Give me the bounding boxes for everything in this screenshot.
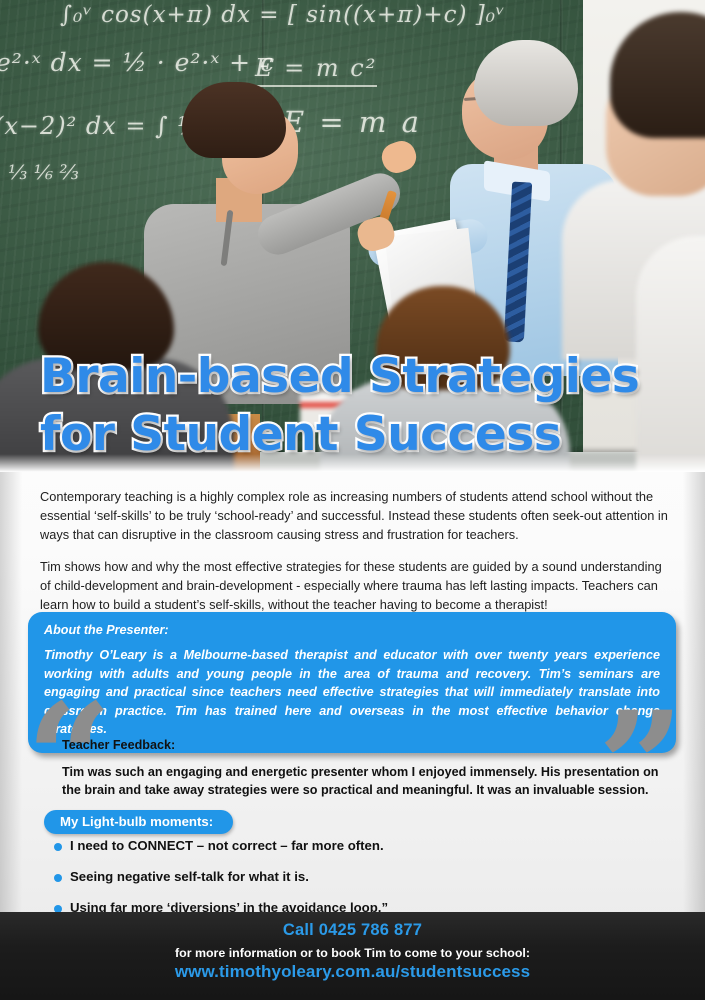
teacher-feedback-section: “ ” Teacher Feedback: Tim was such an en…: [28, 732, 678, 812]
bullet-dot-icon: [54, 843, 62, 851]
about-presenter-heading: About the Presenter:: [44, 623, 660, 637]
flyer-page: ∫₀ᵛ cos(x+π) dx = [ sin((x+π)+c) ]₀ᵛ e²·…: [0, 0, 705, 1000]
feedback-quote: Tim was such an engaging and energetic p…: [62, 763, 670, 799]
list-item: I need to CONNECT – not correct – far mo…: [54, 838, 614, 853]
about-presenter-body: Timothy O’Leary is a Melbourne-based the…: [44, 646, 660, 739]
intro-text: Contemporary teaching is a highly comple…: [40, 487, 672, 614]
list-item: Seeing negative self-talk for what it is…: [54, 869, 614, 884]
list-item-label: Seeing negative self-talk for what it is…: [70, 869, 309, 884]
intro-paragraph-2: Tim shows how and why the most effective…: [40, 557, 672, 614]
lightbulb-moments-badge: My Light-bulb moments:: [44, 810, 233, 834]
title-line-1: Brain-based Strategies: [40, 348, 680, 406]
footer-info-text: for more information or to book Tim to c…: [0, 946, 705, 960]
title-line-2: for Student Success: [40, 406, 680, 464]
website-url-link[interactable]: www.timothyoleary.com.au/studentsuccess: [0, 962, 705, 982]
bullet-dot-icon: [54, 874, 62, 882]
footer: Call 0425 786 877 for more information o…: [0, 912, 705, 1000]
feedback-heading: Teacher Feedback:: [62, 738, 175, 752]
list-item-label: I need to CONNECT – not correct – far mo…: [70, 838, 384, 853]
phone-number[interactable]: Call 0425 786 877: [0, 921, 705, 940]
page-title: Brain-based Strategies for Student Succe…: [40, 348, 680, 464]
intro-paragraph-1: Contemporary teaching is a highly comple…: [40, 487, 672, 544]
